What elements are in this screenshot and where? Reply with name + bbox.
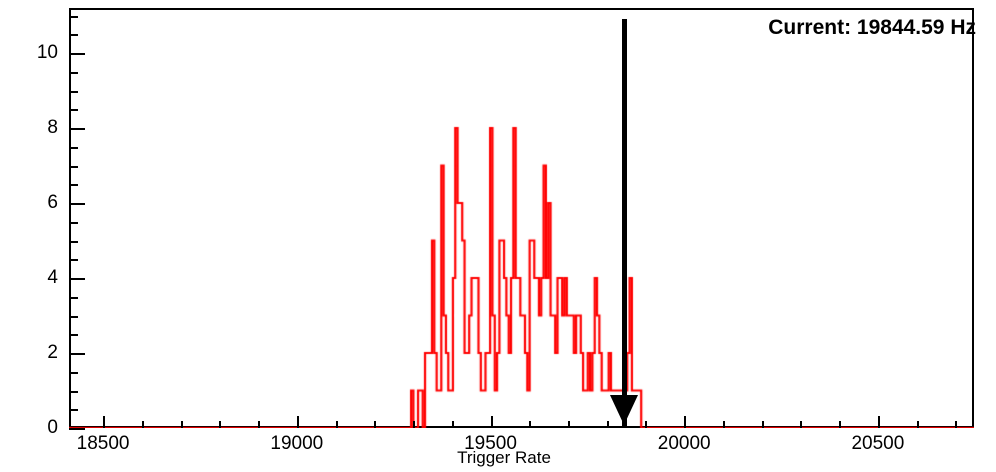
x-axis-minor-tick bbox=[723, 421, 725, 428]
x-axis-minor-tick bbox=[762, 421, 764, 428]
x-axis-minor-tick bbox=[258, 421, 260, 428]
x-axis-major-tick bbox=[297, 416, 299, 428]
x-axis-minor-tick bbox=[529, 421, 531, 428]
x-axis-major-tick bbox=[684, 416, 686, 428]
x-axis-tick-label: 20000 bbox=[634, 433, 734, 455]
x-axis-tick-label: 20500 bbox=[828, 433, 928, 455]
x-axis-minor-tick bbox=[219, 421, 221, 428]
x-axis-tick-label: 19000 bbox=[247, 433, 347, 455]
y-axis-tick-label: 4 bbox=[10, 267, 58, 289]
x-axis-major-tick bbox=[103, 416, 105, 428]
x-axis-minor-tick bbox=[568, 421, 570, 428]
x-axis-minor-tick bbox=[336, 421, 338, 428]
x-axis-title: Trigger Rate bbox=[424, 448, 584, 468]
x-axis-minor-tick bbox=[800, 421, 802, 428]
y-axis-tick-label: 8 bbox=[10, 117, 58, 139]
current-marker-arrowhead bbox=[610, 395, 638, 425]
x-axis-minor-tick bbox=[607, 421, 609, 428]
x-axis bbox=[69, 8, 974, 428]
x-axis-minor-tick bbox=[839, 421, 841, 428]
x-axis-minor-tick bbox=[413, 421, 415, 428]
x-axis-minor-tick bbox=[955, 421, 957, 428]
x-axis-minor-tick bbox=[142, 421, 144, 428]
current-rate-label: Current: 19844.59 Hz bbox=[768, 16, 976, 40]
y-axis-tick-label: 2 bbox=[10, 342, 58, 364]
x-axis-minor-tick bbox=[645, 421, 647, 428]
y-axis-major-tick bbox=[69, 428, 85, 430]
x-axis-minor-tick bbox=[452, 421, 454, 428]
y-axis-tick-label: 0 bbox=[10, 417, 58, 439]
y-axis-tick-label: 10 bbox=[10, 42, 58, 64]
x-axis-major-tick bbox=[491, 416, 493, 428]
x-axis-tick-label: 18500 bbox=[53, 433, 153, 455]
x-axis-major-tick bbox=[878, 416, 880, 428]
histogram-canvas: 0246810 1850019000195002000020500 Trigge… bbox=[0, 0, 996, 472]
current-marker-line bbox=[622, 19, 627, 428]
x-axis-minor-tick bbox=[181, 421, 183, 428]
x-axis-minor-tick bbox=[917, 421, 919, 428]
x-axis-minor-tick bbox=[374, 421, 376, 428]
y-axis-tick-label: 6 bbox=[10, 192, 58, 214]
